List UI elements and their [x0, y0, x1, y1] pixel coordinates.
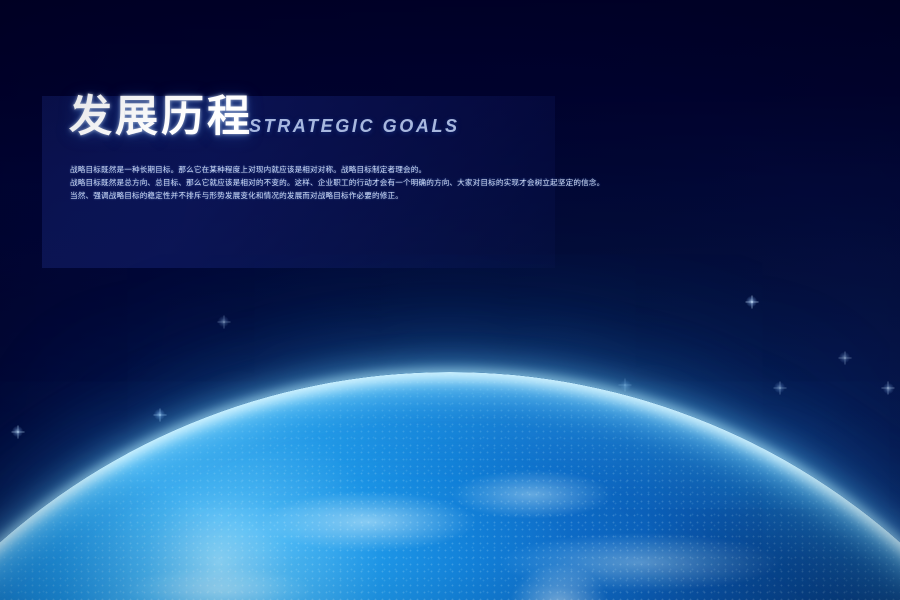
banner-hero: 发展历程 STRATEGIC GOALS 战略目标既然是一种长期目标。那么它在某… [0, 0, 900, 600]
title-row: 发展历程 STRATEGIC GOALS [42, 96, 602, 139]
page-subtitle: STRATEGIC GOALS [249, 117, 460, 135]
description-line: 战略目标既然是总方向、总目标、那么它就应该是相对的不变的。这样、企业职工的行动才… [70, 176, 602, 189]
description-paragraph: 战略目标既然是一种长期目标。那么它在某种程度上对现内就应该是相对对称。战略目标制… [42, 163, 602, 202]
headline-block: 发展历程 STRATEGIC GOALS 战略目标既然是一种长期目标。那么它在某… [42, 96, 602, 202]
page-title: 发展历程 [69, 96, 253, 139]
description-line: 战略目标既然是一种长期目标。那么它在某种程度上对现内就应该是相对对称。战略目标制… [70, 163, 602, 176]
description-line: 当然、强调战略目标的稳定性并不排斥与形势发展变化和情况的发展而对战略目标作必要的… [70, 189, 602, 202]
